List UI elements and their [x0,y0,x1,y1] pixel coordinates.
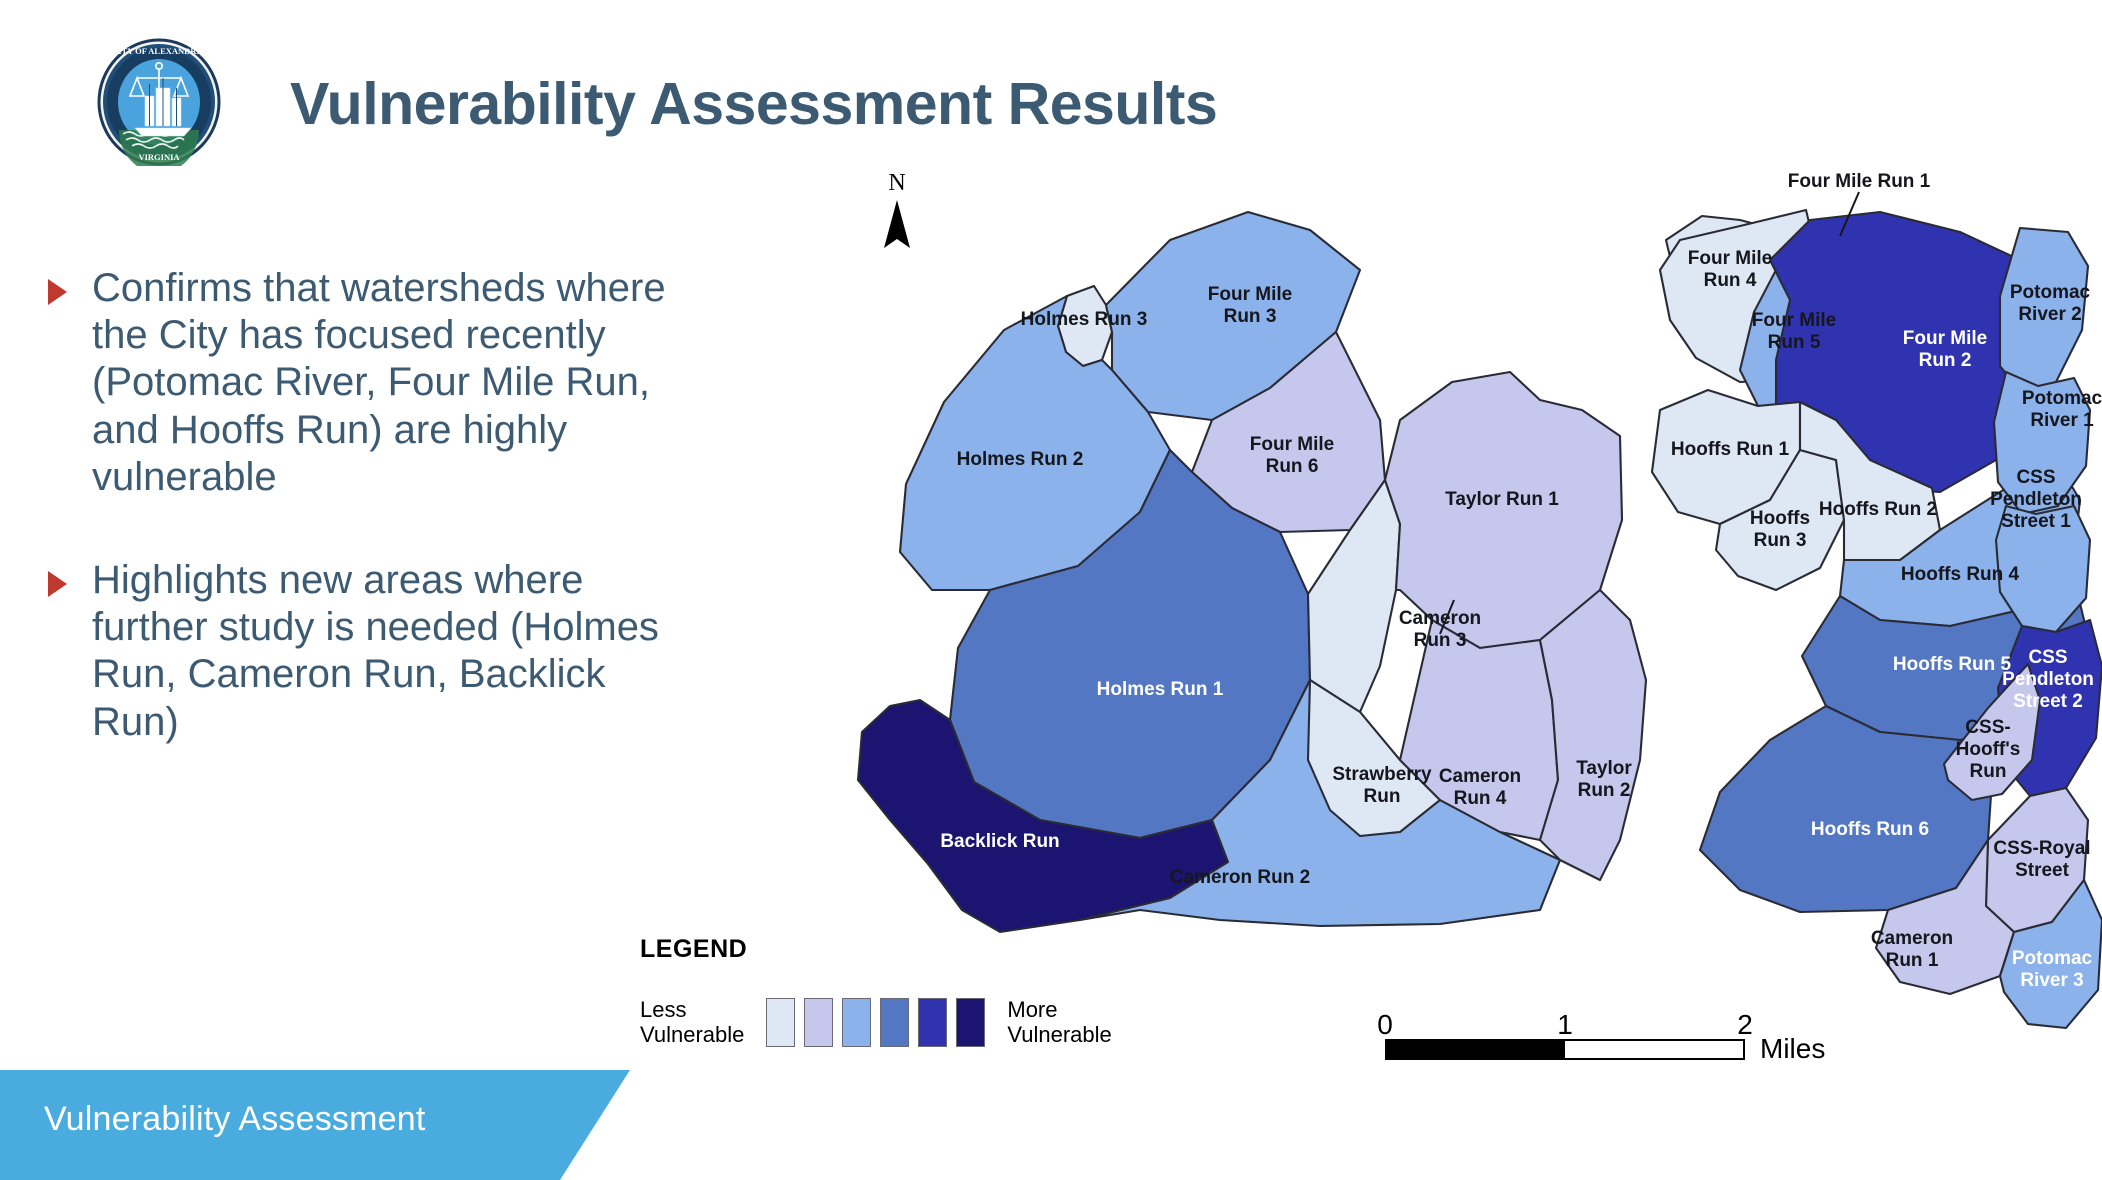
bullet-item: Highlights new areas where further study… [48,557,668,746]
scale-tick-labels: 012 [1385,1005,1805,1039]
legend-title: LEGEND [640,935,1112,964]
footer-banner: Vulnerability Assessment [0,1070,700,1180]
scale-tick-0: 0 [1377,1011,1393,1039]
legend-more-label: More Vulnerable [1007,998,1111,1047]
map-label-backlick-run: Backlick Run [940,831,1059,852]
map-label-taylor-run-2: TaylorRun 2 [1576,758,1632,801]
scale-tick-1: 1 [1557,1011,1573,1039]
map-label-hooffs-run-3: HooffsRun 3 [1750,508,1810,551]
map-label-potomac-river-3: PotomacRiver 3 [2012,948,2093,991]
legend-swatch-3 [842,998,871,1047]
north-arrow-label: N [888,170,905,196]
scale-segment-filled [1387,1041,1565,1058]
map-label-holmes-run-3: Holmes Run 3 [1021,309,1148,330]
legend-swatch-strip [766,998,985,1047]
legend-swatch-5 [918,998,947,1047]
map-label-potomac-river-1: PotomacRiver 1 [2022,388,2102,431]
scale-units-label: Miles [1760,1033,1825,1065]
scale-tick-2: 2 [1737,1011,1753,1039]
bullet-arrow-icon [48,571,76,597]
bullet-arrow-icon [48,279,76,305]
bullet-text: Confirms that watersheds where the City … [92,265,668,501]
legend-swatch-6 [956,998,985,1047]
city-seal-logo: CITY OF ALEXANDRIA VIRGINIA [95,38,223,166]
map-label-taylor-run-1: Taylor Run 1 [1445,489,1559,510]
north-arrow-icon: N [884,170,910,248]
legend-swatch-4 [880,998,909,1047]
map-label-hooffs-run-2: Hooffs Run 2 [1819,499,1937,520]
legend-swatch-2 [804,998,833,1047]
scale-bar-segments [1385,1039,1745,1060]
bullet-list: Confirms that watersheds where the City … [48,265,668,802]
map-label-holmes-run-2: Holmes Run 2 [957,449,1084,470]
bullet-text: Highlights new areas where further study… [92,557,668,746]
map-label-hooffs-run-5: Hooffs Run 5 [1893,654,2012,675]
seal-text-bottom: VIRGINIA [138,152,180,162]
legend: LEGEND Less Vulnerable More Vulnerable [640,935,1112,1047]
map-label-hooffs-run-6: Hooffs Run 6 [1811,819,1929,840]
legend-swatch-1 [766,998,795,1047]
map-label-cameron-run-2: Cameron Run 2 [1170,867,1310,888]
map-label-holmes-run-1: Holmes Run 1 [1097,679,1224,700]
legend-scale: Less Vulnerable More Vulnerable [640,998,1112,1047]
map-label-potomac-river-2: PotomacRiver 2 [2010,282,2091,325]
scale-segment-empty [1565,1041,1743,1058]
map-label-hooffs-run-1: Hooffs Run 1 [1671,439,1790,460]
map-scale-bar: 012 Miles [1385,1005,1805,1060]
bullet-item: Confirms that watersheds where the City … [48,265,668,501]
slide: CITY OF ALEXANDRIA VIRGINIA Vulnerabilit… [0,0,2102,1180]
watershed-taylor-run-2[interactable] [1540,590,1646,880]
map-label-four-mile-run-1: Four Mile Run 1 [1788,171,1931,192]
legend-less-label: Less Vulnerable [640,998,744,1047]
seal-text-top: CITY OF ALEXANDRIA [112,46,207,56]
map-label-hooffs-run-4: Hooffs Run 4 [1901,564,2020,585]
banner-label: Vulnerability Assessment [44,1100,426,1139]
